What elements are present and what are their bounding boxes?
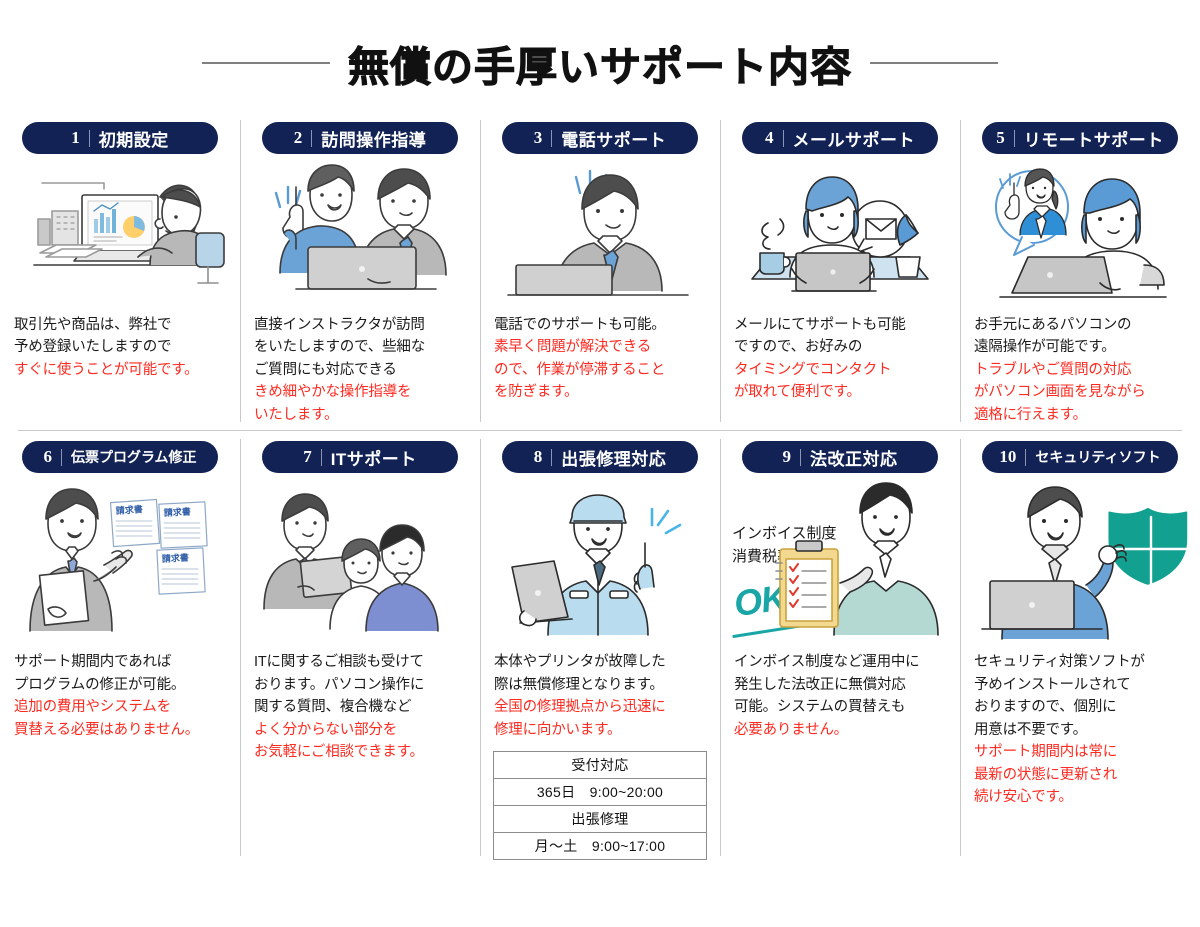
card-9-body: インボイス制度など運用中に 発生した法改正に無償対応 可能。システムの買替えも … [720, 647, 960, 741]
pill-divider [783, 130, 784, 147]
card-9-header: 9 法改正対応 [720, 431, 960, 479]
card-6-line-2: プログラムの修正が可能。 [14, 674, 230, 696]
remote-support-bubble-illustration [960, 160, 1200, 310]
card-9-line-1: インボイス制度など運用中に [734, 651, 950, 673]
card-4-body: メールにてサポートも可能 ですので、お好みの タイミングでコンタクト が取れて便… [720, 310, 960, 404]
card-9-number: 9 [783, 447, 792, 467]
pill-divider [61, 449, 62, 466]
card-3-line-3: ので、作業が停滞すること [494, 359, 710, 381]
card-5-line-4: がパソコン画面を見ながら [974, 381, 1190, 403]
card-5-line-5: 適格に行えます。 [974, 404, 1190, 426]
card-4-label: メールサポート [793, 126, 916, 151]
page-title: 無償の手厚いサポート内容 [348, 33, 852, 93]
man-at-laptop-illustration [480, 160, 720, 310]
card-10-line-6: 最新の状態に更新され [974, 764, 1190, 786]
table-row: 出張修理 [494, 806, 707, 833]
card-2-label: 訪問操作指導 [321, 126, 426, 151]
it-consultation-illustration [240, 479, 480, 647]
card-2-line-2: をいたしますので、些細な [254, 336, 470, 358]
card-2-line-1: 直接インストラクタが訪問 [254, 314, 470, 336]
person-at-desktop-illustration [0, 160, 240, 310]
card-6-number: 6 [43, 447, 52, 467]
card-1-initial-setup[interactable]: 1 初期設定 [0, 112, 240, 430]
card-2-onsite-training[interactable]: 2 訪問操作指導 [240, 112, 480, 430]
page-header: 無償の手厚いサポート内容 [0, 0, 1200, 112]
card-2-header: 2 訪問操作指導 [240, 112, 480, 160]
card-4-line-1: メールにてサポートも可能 [734, 314, 950, 336]
pill-divider [551, 449, 552, 466]
card-5-remote-support[interactable]: 5 リモートサポート [960, 112, 1200, 430]
card-5-pill: 5 リモートサポート [982, 122, 1178, 154]
card-5-label: リモートサポート [1024, 126, 1164, 151]
table-row: 月～土 9:00~17:00 [494, 833, 707, 860]
card-9-pill: 9 法改正対応 [742, 441, 938, 473]
pill-divider [1014, 130, 1015, 147]
pill-divider [1025, 449, 1026, 466]
title-rule-right [870, 62, 998, 64]
card-3-body: 電話でのサポートも可能。 素早く問題が解決できる ので、作業が停滞すること を防… [480, 310, 720, 404]
card-1-number: 1 [71, 128, 80, 148]
card-10-line-7: 続け安心です。 [974, 786, 1190, 808]
card-1-pill: 1 初期設定 [22, 122, 218, 154]
woman-email-bubble-illustration [720, 160, 960, 310]
card-8-number: 8 [534, 447, 543, 467]
card-3-pill: 3 電話サポート [502, 122, 698, 154]
card-7-it-support[interactable]: 7 ITサポート [240, 431, 480, 864]
card-8-line-2: 際は無償修理となります。 [494, 674, 710, 696]
card-7-line-2: おります。パソコン操作に [254, 674, 470, 696]
card-6-label: 伝票プログラム修正 [71, 447, 197, 467]
pill-divider [321, 449, 322, 466]
card-10-line-3: おりますので、個別に [974, 696, 1190, 718]
card-1-line-2: 予め登録いたしますので [14, 336, 230, 358]
card-8-header: 8 出張修理対応 [480, 431, 720, 479]
hours-onsite-header: 出張修理 [494, 806, 707, 833]
card-3-label: 電話サポート [561, 126, 666, 151]
card-7-number: 7 [303, 447, 312, 467]
hours-reception-header: 受付対応 [494, 752, 707, 779]
card-2-body: 直接インストラクタが訪問 をいたしますので、些細な ご質問にも対応できる きめ細… [240, 310, 480, 426]
card-5-body: お手元にあるパソコンの 遠隔操作が可能です。 トラブルやご質問の対応 がパソコン… [960, 310, 1200, 426]
card-6-header: 6 伝票プログラム修正 [0, 431, 240, 479]
card-9-line-3: 可能。システムの買替えも [734, 696, 950, 718]
hours-onsite-value: 月～土 9:00~17:00 [494, 833, 707, 860]
hours-reception-value: 365日 9:00~20:00 [494, 779, 707, 806]
cards-row-2: 6 伝票プログラム修正 請求書 請求書 [0, 431, 1200, 864]
clipboard-check-illustration: インボイス制度 消費税率変更 OK! [720, 479, 960, 647]
card-6-line-4: 買替える必要はありません。 [14, 719, 230, 741]
table-row: 365日 9:00~20:00 [494, 779, 707, 806]
card-10-header: 10 セキュリティソフト [960, 431, 1200, 479]
card-2-line-5: いたします。 [254, 404, 470, 426]
card-9-law-revision[interactable]: 9 法改正対応 インボイス制度 消費税率変更 OK! [720, 431, 960, 864]
card-3-line-1: 電話でのサポートも可能。 [494, 314, 710, 336]
card-7-line-1: ITに関するご相談も受けて [254, 651, 470, 673]
card-9-label: 法改正対応 [810, 445, 898, 470]
card-10-line-4: 用意は不要です。 [974, 719, 1190, 741]
card-4-line-3: タイミングでコンタクト [734, 359, 950, 381]
card-1-label: 初期設定 [99, 126, 169, 151]
card-9-line-2: 発生した法改正に無償対応 [734, 674, 950, 696]
card-6-pill: 6 伝票プログラム修正 [22, 441, 218, 473]
card-8-onsite-repair[interactable]: 8 出張修理対応 [480, 431, 720, 864]
card-5-line-1: お手元にあるパソコンの [974, 314, 1190, 336]
card-7-body: ITに関するご相談も受けて おります。パソコン操作に 関する質問、複合機など よ… [240, 647, 480, 763]
card-2-number: 2 [294, 128, 303, 148]
card-10-body: セキュリティ対策ソフトが 予めインストールされて おりますので、個別に 用意は不… [960, 647, 1200, 808]
card-4-header: 4 メールサポート [720, 112, 960, 160]
card-7-line-4: よく分からない部分を [254, 719, 470, 741]
card-5-line-2: 遠隔操作が可能です。 [974, 336, 1190, 358]
card-8-line-4: 修理に向かいます。 [494, 719, 710, 741]
card-5-line-3: トラブルやご質問の対応 [974, 359, 1190, 381]
card-4-pill: 4 メールサポート [742, 122, 938, 154]
repair-technician-illustration [480, 479, 720, 647]
card-9-line-4: 必要ありません。 [734, 719, 950, 741]
card-5-number: 5 [996, 128, 1005, 148]
card-8-line-3: 全国の修理拠点から迅速に [494, 696, 710, 718]
pill-divider [311, 130, 312, 147]
card-8-body: 本体やプリンタが故障した 際は無償修理となります。 全国の修理拠点から迅速に 修… [480, 647, 720, 741]
card-7-pill: 7 ITサポート [262, 441, 458, 473]
card-10-security-software[interactable]: 10 セキュリティソフト [960, 431, 1200, 864]
infographic-page: 無償の手厚いサポート内容 1 初期設定 [0, 0, 1200, 927]
card-3-header: 3 電話サポート [480, 112, 720, 160]
card-1-body: 取引先や商品は、弊社で 予め登録いたしますので すぐに使うことが可能です。 [0, 310, 240, 381]
card-10-line-5: サポート期間内は常に [974, 741, 1190, 763]
card-10-line-2: 予めインストールされて [974, 674, 1190, 696]
card-10-label: セキュリティソフト [1035, 447, 1160, 467]
svg-text:請求書: 請求書 [164, 506, 192, 518]
card-1-line-3: すぐに使うことが可能です。 [14, 359, 230, 381]
pill-divider [551, 130, 552, 147]
card-7-line-3: 関する質問、複合機など [254, 696, 470, 718]
two-people-laptop-illustration [240, 160, 480, 310]
card-7-header: 7 ITサポート [240, 431, 480, 479]
card-2-line-4: きめ細やかな操作指導を [254, 381, 470, 403]
card-3-line-4: を防ぎます。 [494, 381, 710, 403]
table-row: 受付対応 [494, 752, 707, 779]
card-10-number: 10 [999, 447, 1016, 467]
card-5-header: 5 リモートサポート [960, 112, 1200, 160]
card-1-line-1: 取引先や商品は、弊社で [14, 314, 230, 336]
cards-row-1: 1 初期設定 [0, 112, 1200, 430]
card-10-line-1: セキュリティ対策ソフトが [974, 651, 1190, 673]
card-3-line-2: 素早く問題が解決できる [494, 336, 710, 358]
title-rule-left [202, 62, 330, 64]
card-6-line-1: サポート期間内であれば [14, 651, 230, 673]
card-4-line-2: ですので、お好みの [734, 336, 950, 358]
support-hours-table: 受付対応 365日 9:00~20:00 出張修理 月～土 9:00~17:00 [493, 751, 707, 860]
security-shield-illustration [960, 479, 1200, 647]
card-3-phone-support[interactable]: 3 電話サポート [480, 112, 720, 430]
card-8-pill: 8 出張修理対応 [502, 441, 698, 473]
svg-text:請求書: 請求書 [115, 503, 143, 516]
card-6-slip-program-fix[interactable]: 6 伝票プログラム修正 請求書 請求書 [0, 431, 240, 864]
card-8-label: 出張修理対応 [561, 445, 666, 470]
pill-divider [800, 449, 801, 466]
card-3-number: 3 [534, 128, 543, 148]
pill-divider [89, 130, 90, 147]
card-10-pill: 10 セキュリティソフト [982, 441, 1178, 473]
card-8-line-1: 本体やプリンタが故障した [494, 651, 710, 673]
svg-text:請求書: 請求書 [162, 552, 190, 564]
card-2-line-3: ご質問にも対応できる [254, 359, 470, 381]
card-7-label: ITサポート [331, 445, 417, 470]
card-7-line-5: お気軽にご相談できます。 [254, 741, 470, 763]
card-6-body: サポート期間内であれば プログラムの修正が可能。 追加の費用やシステムを 買替え… [0, 647, 240, 741]
card-4-number: 4 [765, 128, 774, 148]
card-6-line-3: 追加の費用やシステムを [14, 696, 230, 718]
card-4-line-4: が取れて便利です。 [734, 381, 950, 403]
card-4-email-support[interactable]: 4 メールサポート [720, 112, 960, 430]
card-1-header: 1 初期設定 [0, 112, 240, 160]
man-presenting-invoices-illustration: 請求書 請求書 請求書 [0, 479, 240, 647]
card-2-pill: 2 訪問操作指導 [262, 122, 458, 154]
